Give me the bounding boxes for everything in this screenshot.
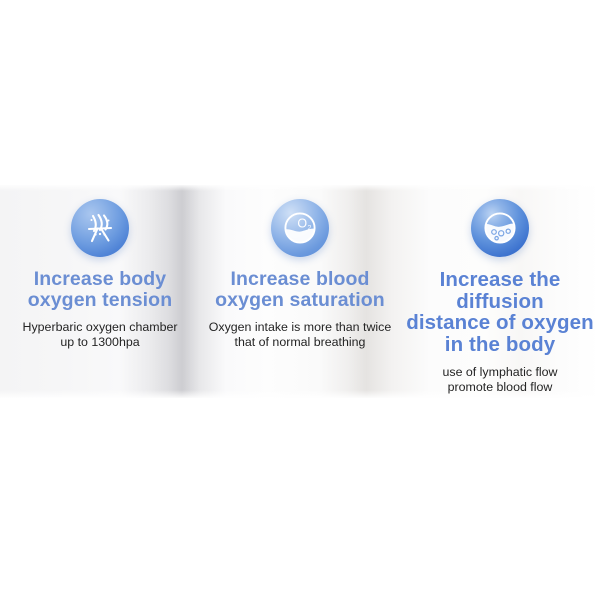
- bubbles-in-liquid-icon: [471, 199, 529, 257]
- feature-subtitle: Oxygen intake is more than twice that of…: [209, 320, 392, 350]
- feature-subtitle: use of lymphatic flow promote blood flow: [442, 365, 557, 395]
- oxygen-molecule-lines-icon: [71, 199, 129, 257]
- feature-columns: Increase body oxygen tension Hyperbaric …: [0, 185, 600, 398]
- infographic-canvas: Increase body oxygen tension Hyperbaric …: [0, 0, 600, 600]
- feature-column-oxygen-tension: Increase body oxygen tension Hyperbaric …: [0, 185, 200, 351]
- feature-heading: Increase the diffusion distance of oxyge…: [400, 269, 600, 356]
- feature-heading: Increase blood oxygen saturation: [215, 269, 385, 310]
- feature-subtitle: Hyperbaric oxygen chamber up to 1300hpa: [23, 320, 178, 350]
- feature-heading: Increase body oxygen tension: [28, 269, 172, 310]
- o2-liquid-circle-icon: O 2: [271, 199, 329, 257]
- feature-column-diffusion-distance: Increase the diffusion distance of oxyge…: [400, 185, 600, 395]
- feature-column-oxygen-saturation: O 2 Increase blood oxygen saturation Oxy…: [200, 185, 400, 351]
- svg-text:2: 2: [307, 225, 311, 232]
- svg-text:O: O: [297, 217, 307, 231]
